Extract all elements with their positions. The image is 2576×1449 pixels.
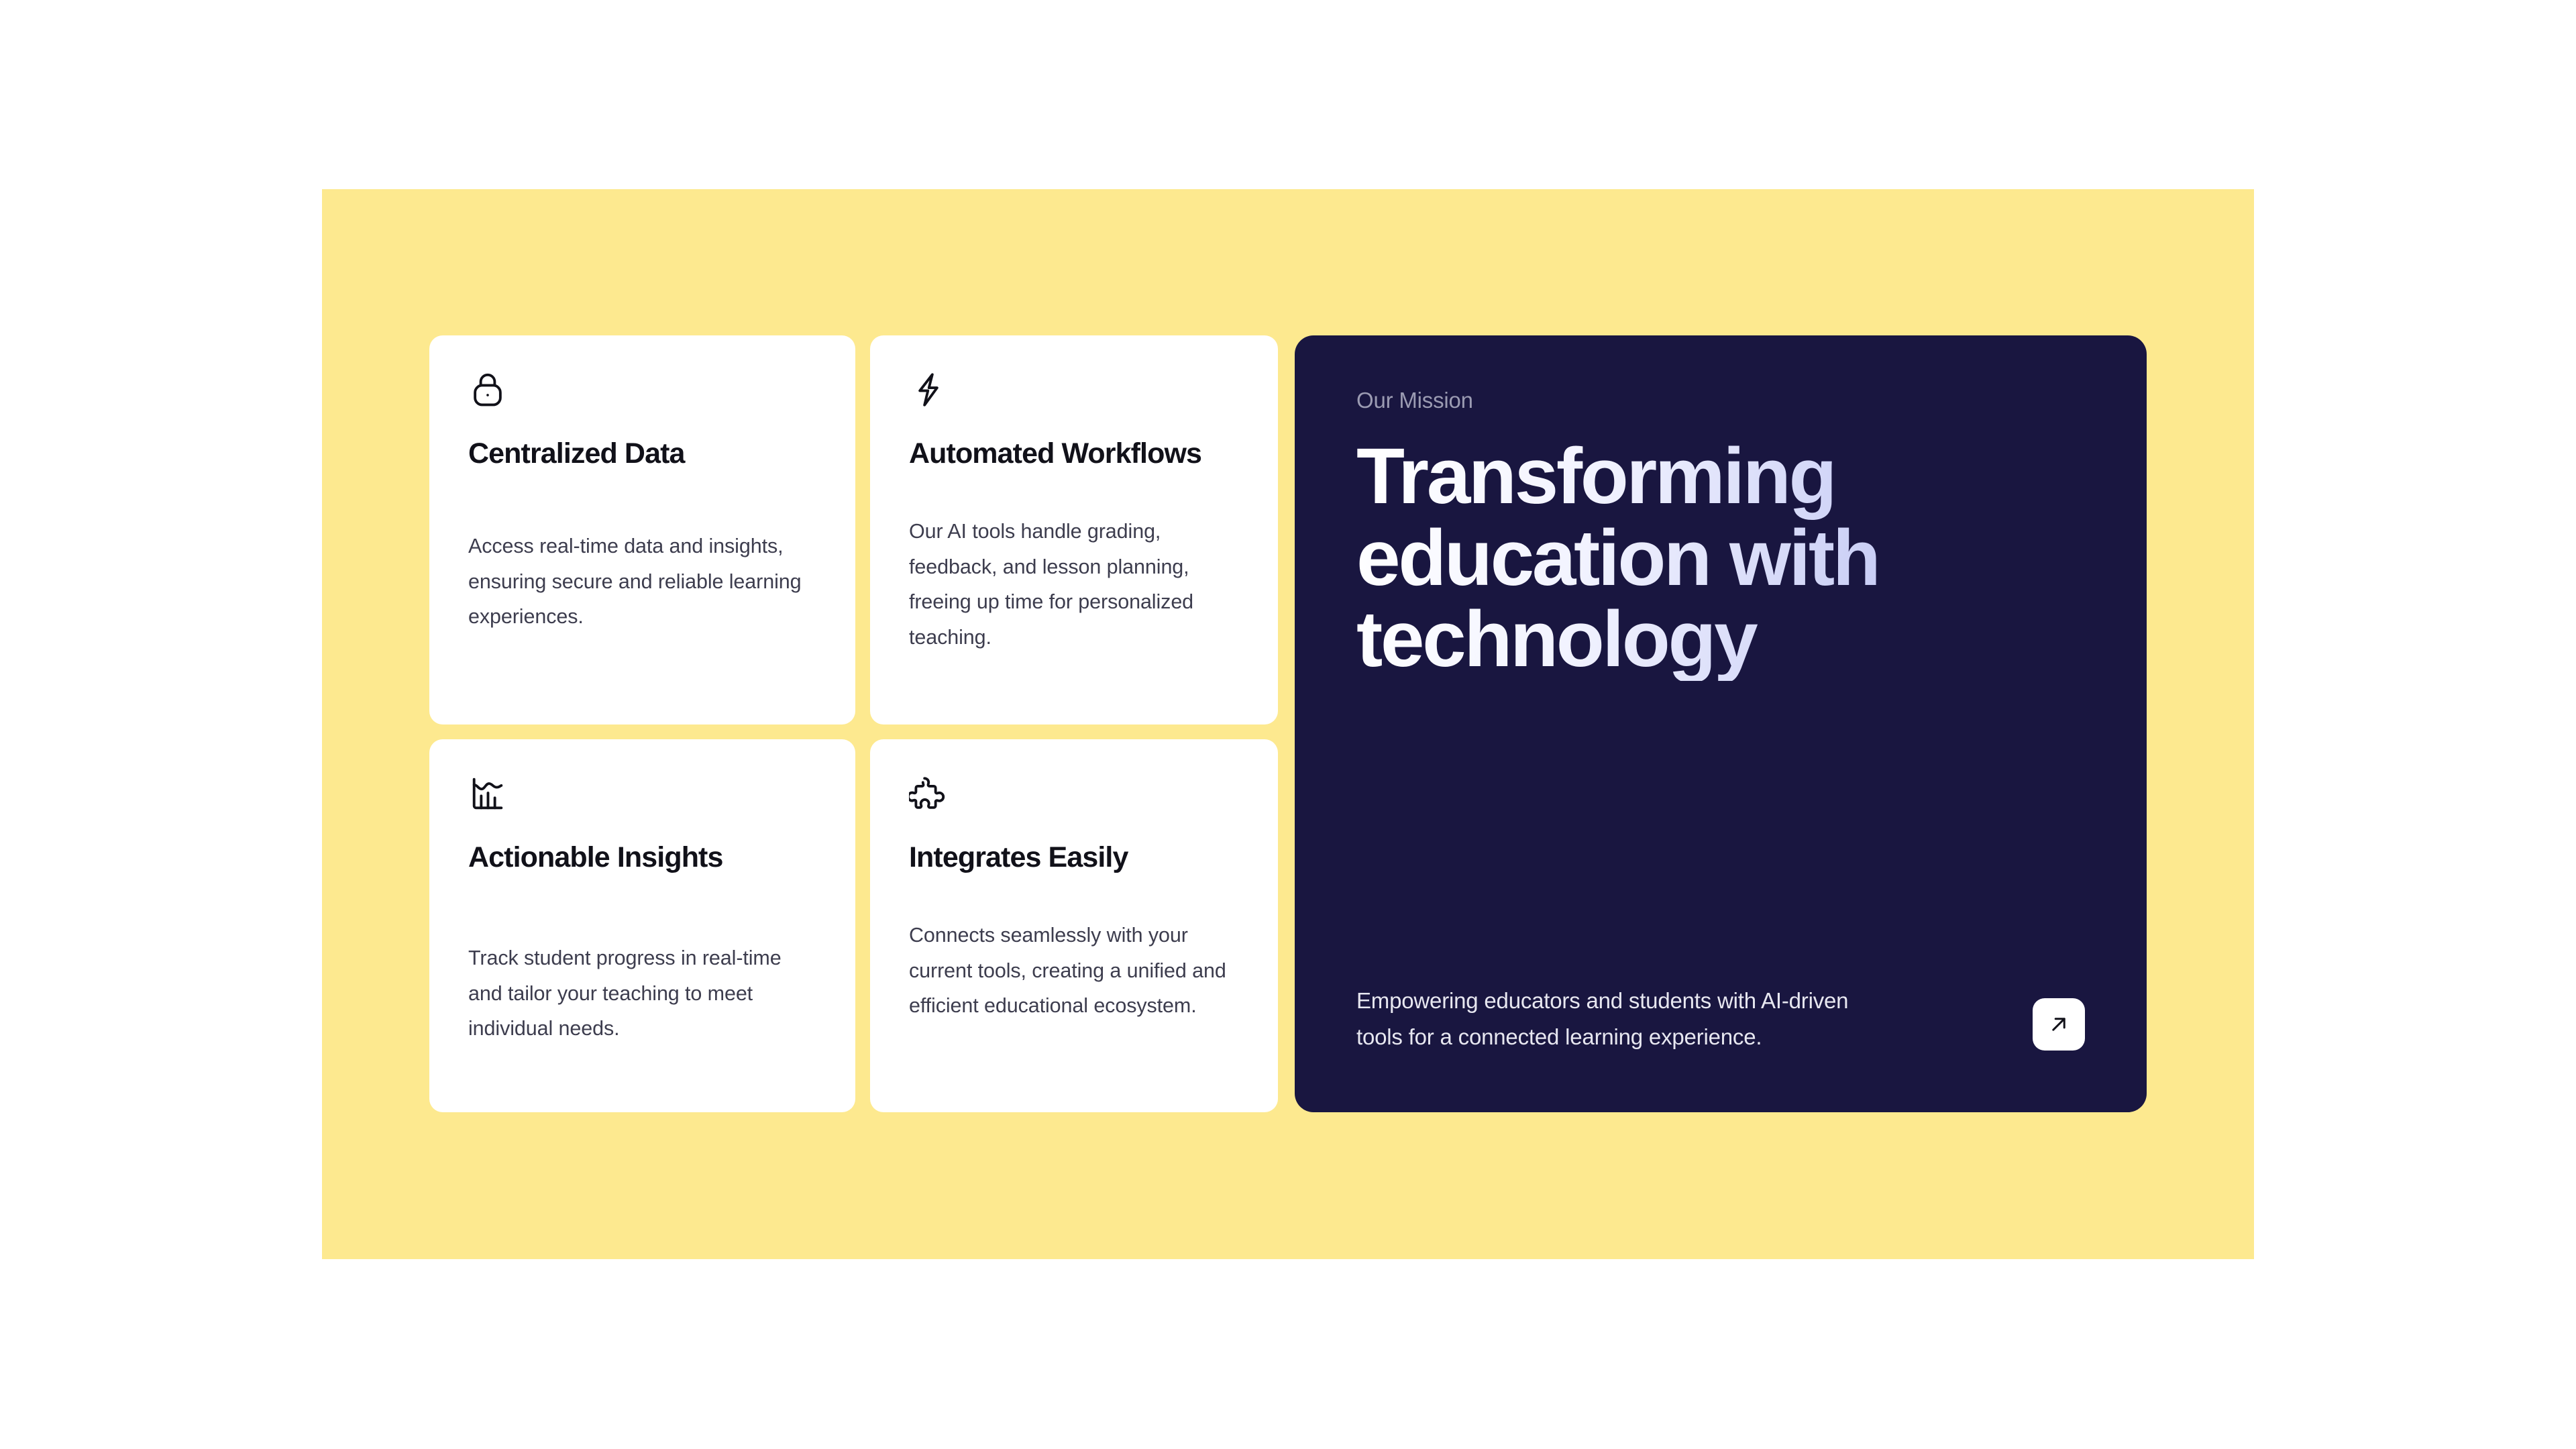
lightning-bolt-icon — [909, 370, 948, 409]
feature-card-title: Automated Workflows — [909, 437, 1239, 470]
lock-icon — [468, 370, 507, 409]
mission-cta-button[interactable] — [2033, 998, 2085, 1051]
feature-card-body: Our AI tools handle grading, feedback, a… — [909, 514, 1239, 655]
mission-heading: Transforming education with technology — [1356, 436, 2085, 681]
feature-card-actionable-insights[interactable]: Actionable Insights Track student progre… — [429, 739, 855, 1112]
feature-card-title: Centralized Data — [468, 437, 816, 470]
feature-card-automated-workflows[interactable]: Automated Workflows Our AI tools handle … — [870, 335, 1278, 724]
arrow-up-right-icon — [2047, 1013, 2070, 1036]
mission-footer: Empowering educators and students with A… — [1356, 983, 2085, 1069]
feature-card-body: Access real-time data and insights, ensu… — [468, 529, 816, 634]
mission-panel: Our Mission Transforming education with … — [1295, 335, 2147, 1112]
bar-chart-icon — [468, 774, 507, 813]
puzzle-piece-icon — [909, 774, 948, 813]
feature-card-centralized-data[interactable]: Centralized Data Access real-time data a… — [429, 335, 855, 724]
feature-card-body: Connects seamlessly with your current to… — [909, 918, 1239, 1023]
feature-card-integrates-easily[interactable]: Integrates Easily Connects seamlessly wi… — [870, 739, 1278, 1112]
mission-eyebrow-label: Our Mission — [1356, 388, 2085, 413]
feature-card-title: Actionable Insights — [468, 841, 816, 873]
mission-description: Empowering educators and students with A… — [1356, 983, 1873, 1055]
feature-grid: Centralized Data Access real-time data a… — [429, 335, 2147, 1112]
feature-card-title: Integrates Easily — [909, 841, 1239, 873]
feature-card-body: Track student progress in real-time and … — [468, 941, 816, 1046]
